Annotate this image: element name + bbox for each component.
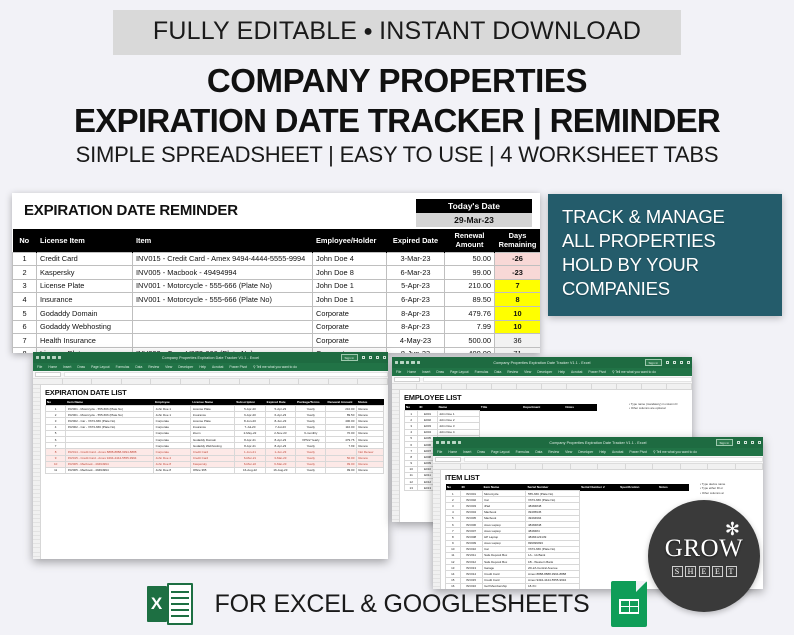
excel-icon-letter: X — [147, 586, 167, 622]
cell-pkg: Yearly — [296, 467, 326, 473]
cell-item: INV001 - Motorcycle - 555-666 (Plate No) — [133, 279, 313, 293]
col-notes: Notes — [658, 484, 690, 491]
ribbon-tab-formulas[interactable]: Formulas — [516, 450, 530, 454]
column-header-H[interactable] — [626, 464, 654, 469]
ribbon-tab-page-layout[interactable]: Page Layout — [450, 370, 469, 374]
ribbon-tab-insert[interactable]: Insert — [422, 370, 430, 374]
cell-lic: Office 365 — [191, 467, 235, 473]
table-row: 3License PlateINV001 - Motorcycle - 555-… — [13, 279, 541, 293]
ribbon-tab-strip[interactable]: FileHomeInsertDrawPage LayoutFormulasDat… — [433, 448, 763, 456]
table-row: 7Health InsuranceCorporate4-May-23500.00… — [13, 334, 541, 348]
cell-holder: Corporate — [313, 320, 387, 334]
todays-date-label: Today's Date — [416, 199, 532, 213]
cell-renewal-amount: 89.50 — [445, 293, 495, 307]
formula-bar[interactable] — [33, 371, 388, 379]
col-department: Department — [522, 404, 564, 411]
sheet-title: EXPIRATION DATE REMINDER — [12, 202, 238, 219]
ribbon-tab-draw[interactable]: Draw — [77, 365, 85, 369]
logo-letter-h: H — [685, 566, 696, 577]
name-box[interactable] — [35, 372, 61, 377]
column-header-B[interactable] — [417, 384, 442, 389]
page-tagline: SIMPLE SPREADSHEET | EASY TO USE | 4 WOR… — [0, 142, 794, 168]
close-icon[interactable] — [383, 356, 386, 359]
cell-renewal-amount: 99.00 — [445, 266, 495, 280]
sign-in-button[interactable]: Sign in — [645, 359, 662, 366]
worksheet-heading: ITEM LIST — [445, 473, 759, 482]
cell-license-item: Health Insurance — [37, 334, 133, 348]
cell-item — [133, 334, 313, 348]
col-renewal-amount: Renewal Amount — [445, 229, 495, 252]
col-expired-date: Expired Date — [387, 229, 445, 252]
cell-license-item: Insurance — [37, 293, 133, 307]
excel-icon-grid — [167, 583, 193, 625]
logo-letter-e: E — [712, 566, 723, 577]
cell-expired-date: 3-Mar-23 — [387, 252, 445, 266]
window-title-text: Company Properties Expiration Date Track… — [33, 356, 388, 360]
cell-st: Renew — [356, 467, 383, 473]
cell-no: 3 — [13, 279, 37, 293]
window-title-bar[interactable]: Company Properties Expiration Date Track… — [392, 357, 692, 368]
column-header-A[interactable] — [433, 464, 461, 469]
note-line: • Other columns are optional — [629, 406, 689, 410]
column-header-J[interactable] — [681, 464, 709, 469]
footer: X FOR EXCEL & GOOGLESHEETS — [0, 581, 794, 627]
col-no: No — [13, 229, 37, 252]
cell-sub: 16-Aug-22 — [235, 467, 265, 473]
column-header-D[interactable] — [467, 384, 492, 389]
marketing-line-4: COMPANIES — [562, 277, 782, 301]
maximize-icon[interactable] — [751, 441, 754, 444]
sheets-cell — [621, 607, 629, 612]
ribbon-tab-insert[interactable]: Insert — [63, 365, 71, 369]
employee-notes: • Type name (mandatory) in column D• Oth… — [629, 402, 689, 411]
window-title-text: Company Properties Expiration Date Track… — [433, 441, 763, 445]
column-header-D[interactable] — [516, 464, 544, 469]
ribbon-tab-strip[interactable]: FileHomeInsertDrawPage LayoutFormulasDat… — [33, 363, 388, 371]
col-notes: Notes — [564, 404, 597, 411]
ribbon-tab-view[interactable]: View — [524, 370, 531, 374]
ribbon-tab-draw[interactable]: Draw — [436, 370, 444, 374]
column-header-H[interactable] — [567, 384, 592, 389]
row-header-32[interactable] — [392, 520, 399, 522]
cell-no: 5 — [13, 307, 37, 321]
cell-no: 4 — [13, 293, 37, 307]
ribbon-options-icon[interactable] — [737, 441, 740, 444]
ribbon-tab-review[interactable]: Review — [507, 370, 518, 374]
col-title: Title — [479, 404, 521, 411]
page-subtitle-main: EXPIRATION DATE TRACKER | REMINDER — [0, 104, 794, 139]
name-box[interactable] — [394, 377, 420, 382]
col-days-remaining: Days Remaining — [495, 229, 541, 252]
column-header-E[interactable] — [543, 464, 571, 469]
tell-me-search[interactable]: ⚲ Tell me what you want to do — [612, 370, 656, 374]
cell-renewal-amount: 479.76 — [445, 307, 495, 321]
column-header-A[interactable] — [392, 384, 417, 389]
col-serial-number-2: Serial Number 2 — [580, 484, 619, 491]
item-notes: • Type device name• Type either ID or• O… — [700, 482, 760, 495]
cell-holder: John Doe 1 — [313, 293, 387, 307]
column-header-E[interactable] — [492, 384, 517, 389]
sign-in-button[interactable]: Sign in — [341, 354, 358, 361]
google-sheets-icon — [611, 581, 647, 627]
ribbon-tab-page-layout[interactable]: Page Layout — [491, 450, 510, 454]
maximize-icon[interactable] — [680, 361, 683, 364]
excel-icon-row — [171, 615, 189, 618]
column-header-L[interactable] — [667, 384, 692, 389]
row-header-42[interactable] — [33, 557, 40, 559]
col-item: Item — [133, 229, 313, 252]
ribbon-tab-home[interactable]: Home — [48, 365, 57, 369]
cell-days-remaining: 36 — [495, 334, 541, 348]
page-title: COMPANY PROPERTIES — [0, 64, 794, 99]
sheets-cell — [630, 607, 638, 612]
column-header-K[interactable] — [329, 379, 359, 384]
ribbon-tab-view[interactable]: View — [565, 450, 572, 454]
formula-bar[interactable] — [433, 456, 763, 464]
minimize-icon[interactable] — [744, 441, 747, 444]
cell-no: 6 — [13, 320, 37, 334]
marketing-line-2: ALL PROPERTIES — [562, 229, 782, 253]
close-icon[interactable] — [687, 361, 690, 364]
cell-no: 7 — [13, 334, 37, 348]
worksheet-canvas[interactable]: EXPIRATION DATE LIST NoItem NameEmployee… — [41, 385, 388, 559]
footer-text: FOR EXCEL & GOOGLESHEETS — [215, 590, 590, 619]
cell-item: INV005 - Macbook - 49494994 — [133, 266, 313, 280]
excel-icon-row — [171, 603, 189, 606]
cell-exp: 16-Aug-23 — [265, 467, 295, 473]
window-controls[interactable] — [666, 361, 690, 364]
window-title-bar[interactable]: Company Properties Expiration Date Track… — [433, 437, 763, 448]
column-header-I[interactable] — [653, 464, 681, 469]
cell-item — [133, 320, 313, 334]
ribbon-tab-insert[interactable]: Insert — [463, 450, 471, 454]
promo-ribbon-right: INSTANT DOWNLOAD — [379, 17, 641, 45]
cell-holder: John Doe 8 — [313, 266, 387, 280]
column-header-F[interactable] — [571, 464, 599, 469]
todays-date-value: 29-Mar-23 — [416, 213, 532, 227]
column-header-E[interactable] — [151, 379, 181, 384]
column-header-D[interactable] — [122, 379, 152, 384]
row-headers[interactable] — [433, 470, 441, 589]
cell-expired-date: 6-Apr-23 — [387, 293, 445, 307]
cell-renewal-amount: 400.00 — [445, 347, 495, 353]
table-row: 1Credit CardINV015 - Credit Card - Amex … — [13, 252, 541, 266]
cell-no: 11 — [46, 467, 66, 473]
window-controls[interactable] — [737, 441, 761, 444]
ribbon-tab-review[interactable]: Review — [548, 450, 559, 454]
column-header-J[interactable] — [299, 379, 329, 384]
cell-expired-date: 6-Mar-23 — [387, 266, 445, 280]
ribbon-tab-data[interactable]: Data — [135, 365, 142, 369]
sign-in-button[interactable]: Sign in — [716, 439, 733, 446]
column-header-C[interactable] — [488, 464, 516, 469]
cell-amt: 99.00 — [326, 467, 356, 473]
ribbon-tab-power-pivot[interactable]: Power Pivot — [229, 365, 247, 369]
column-header-K[interactable] — [708, 464, 736, 469]
table-row: 11INV005 - Macbook - 49494994John Doe 8O… — [46, 467, 384, 473]
ribbon-tab-formulas[interactable]: Formulas — [475, 370, 489, 374]
ribbon-tab-help[interactable]: Help — [199, 365, 206, 369]
ribbon-tab-developer[interactable]: Developer — [178, 365, 193, 369]
table-row: 6Godaddy WebhostingCorporate8-Apr-237.99… — [13, 320, 541, 334]
column-header-H[interactable] — [240, 379, 270, 384]
tell-me-search[interactable]: ⚲ Tell me what you want to do — [253, 365, 297, 369]
excel-icon-row — [171, 609, 189, 612]
window-title-bar[interactable]: Company Properties Expiration Date Track… — [33, 352, 388, 363]
ribbon-tab-power-pivot[interactable]: Power Pivot — [629, 450, 647, 454]
formula-bar[interactable] — [392, 376, 692, 384]
cell-expired-date: 8-Jun-23 — [387, 347, 445, 353]
cell-license-item: License Plate — [37, 279, 133, 293]
ribbon-tab-help[interactable]: Help — [558, 370, 565, 374]
column-header-C[interactable] — [92, 379, 122, 384]
row-headers[interactable] — [33, 385, 41, 559]
cell-holder: John Doe 4 — [313, 252, 387, 266]
column-header-C[interactable] — [442, 384, 467, 389]
marketing-line-3: HOLD BY YOUR — [562, 253, 782, 277]
ribbon-tab-acrobat[interactable]: Acrobat — [212, 365, 223, 369]
formula-input[interactable] — [423, 377, 692, 382]
cell-no: 1 — [13, 252, 37, 266]
note-line: • Other columns ar — [700, 491, 760, 495]
reminder-table-header-row: No License Item Item Employee/Holder Exp… — [13, 229, 541, 252]
sheets-grid — [619, 599, 639, 614]
cell-holder: Corporate — [313, 334, 387, 348]
excel-window-expiration-date-list[interactable]: Company Properties Expiration Date Track… — [33, 352, 388, 559]
sheets-cell — [621, 601, 629, 606]
ribbon-tab-acrobat[interactable]: Acrobat — [612, 450, 623, 454]
cell-days-remaining: -26 — [495, 252, 541, 266]
ribbon-tab-help[interactable]: Help — [599, 450, 606, 454]
minimize-icon[interactable] — [673, 361, 676, 364]
ribbon-tab-page-layout[interactable]: Page Layout — [91, 365, 110, 369]
cell-license-item: Kaspersky — [37, 266, 133, 280]
column-header-I[interactable] — [270, 379, 300, 384]
flower-icon: ✻ — [725, 520, 740, 538]
ribbon-tab-strip[interactable]: FileHomeInsertDrawPage LayoutFormulasDat… — [392, 368, 692, 376]
column-header-G[interactable] — [210, 379, 240, 384]
column-header-G[interactable] — [598, 464, 626, 469]
column-header-A[interactable] — [33, 379, 63, 384]
marketing-line-1: TRACK & MANAGE — [562, 205, 782, 229]
ribbon-tab-draw[interactable]: Draw — [477, 450, 485, 454]
ribbon-tab-file[interactable]: File — [37, 365, 42, 369]
col-specification: Specification — [619, 484, 658, 491]
cell-days-remaining: 8 — [495, 293, 541, 307]
ribbon-tab-file[interactable]: File — [396, 370, 401, 374]
column-header-F[interactable] — [517, 384, 542, 389]
ribbon-tab-file[interactable]: File — [437, 450, 442, 454]
name-box[interactable] — [435, 457, 461, 462]
promo-ribbon-left: FULLY EDITABLE — [153, 17, 357, 45]
hero-header: FULLY EDITABLE●INSTANT DOWNLOAD COMPANY … — [0, 0, 794, 168]
column-header-L[interactable] — [358, 379, 388, 384]
cell-days-remaining: 10 — [495, 320, 541, 334]
cell-item: INV015 - Credit Card - Amex 9494-4444-55… — [133, 252, 313, 266]
table-row: 5Godaddy DomainCorporate8-Apr-23479.7610 — [13, 307, 541, 321]
cell-renewal-amount: 210.00 — [445, 279, 495, 293]
column-header-G[interactable] — [542, 384, 567, 389]
cell-expired-date: 8-Apr-23 — [387, 320, 445, 334]
formula-input[interactable] — [464, 457, 763, 462]
tell-me-search[interactable]: ⚲ Tell me what you want to do — [653, 450, 697, 454]
minimize-icon[interactable] — [369, 356, 372, 359]
cell-license-item: Godaddy Webhosting — [37, 320, 133, 334]
column-header-B[interactable] — [63, 379, 93, 384]
ribbon-tab-formulas[interactable]: Formulas — [116, 365, 130, 369]
row-headers[interactable] — [392, 390, 400, 522]
cell-expired-date: 8-Apr-23 — [387, 307, 445, 321]
ribbon-tab-developer[interactable]: Developer — [537, 370, 552, 374]
ribbon-tab-data[interactable]: Data — [494, 370, 501, 374]
logo-grow-text: GROW — [665, 536, 743, 561]
table-row: 2KasperskyINV005 - Macbook - 49494994Joh… — [13, 266, 541, 280]
cell-item: INV001 - Motorcycle - 555-666 (Plate No) — [133, 293, 313, 307]
logo-letter-t: T — [726, 566, 737, 577]
excel-icon-row — [171, 591, 189, 594]
ribbon-tab-developer[interactable]: Developer — [578, 450, 593, 454]
cell-expired-date: 5-Apr-23 — [387, 279, 445, 293]
close-icon[interactable] — [758, 441, 761, 444]
cell-item — [133, 307, 313, 321]
cell-license-item: Godaddy Domain — [37, 307, 133, 321]
column-header-B[interactable] — [461, 464, 489, 469]
cell-days-remaining: -23 — [495, 266, 541, 280]
col-license-item: License Item — [37, 229, 133, 252]
cell-no: 2 — [13, 266, 37, 280]
column-header-K[interactable] — [642, 384, 667, 389]
ribbon-options-icon[interactable] — [362, 356, 365, 359]
column-header-I[interactable] — [592, 384, 617, 389]
logo-sheet-letters: SHEET — [672, 566, 737, 577]
excel-icon: X — [147, 583, 193, 625]
window-controls[interactable] — [362, 356, 386, 359]
ribbon-tab-data[interactable]: Data — [535, 450, 542, 454]
cell-days-remaining: 10 — [495, 307, 541, 321]
col-employee-holder: Employee/Holder — [313, 229, 387, 252]
column-header-L[interactable] — [736, 464, 764, 469]
ribbon-tab-power-pivot[interactable]: Power Pivot — [588, 370, 606, 374]
cell-holder: John Doe 1 — [313, 279, 387, 293]
cell-renewal-amount: 500.00 — [445, 334, 495, 348]
marketing-panel: TRACK & MANAGE ALL PROPERTIES HOLD BY YO… — [548, 194, 782, 316]
todays-date-box: Today's Date 29-Mar-23 — [416, 199, 532, 227]
logo-letter-e: E — [699, 566, 710, 577]
cell-no: 13 — [405, 485, 418, 491]
bullet-dot-icon: ● — [357, 23, 379, 40]
cell-item: INV005 - Macbook - 49494994 — [66, 467, 154, 473]
cell-renewal-amount: 7.99 — [445, 320, 495, 334]
ribbon-options-icon[interactable] — [666, 361, 669, 364]
formula-input[interactable] — [64, 372, 388, 377]
cell-expired-date: 4-May-23 — [387, 334, 445, 348]
ribbon-tab-view[interactable]: View — [165, 365, 172, 369]
logo-letter-s: S — [672, 566, 683, 577]
worksheet-body[interactable]: EXPIRATION DATE LIST NoItem NameEmployee… — [33, 385, 388, 559]
expiration-list-table: NoItem NameEmployeeLicense NameSubscript… — [45, 399, 384, 474]
table-row: 4InsuranceINV001 - Motorcycle - 555-666 … — [13, 293, 541, 307]
cell-license-item: Credit Card — [37, 252, 133, 266]
ribbon-tab-review[interactable]: Review — [148, 365, 159, 369]
cell-days-remaining: 7 — [495, 279, 541, 293]
worksheet-heading: EMPLOYEE LIST — [404, 393, 688, 402]
maximize-icon[interactable] — [376, 356, 379, 359]
cell-emp: John Doe 8 — [154, 467, 191, 473]
sheet-header: EXPIRATION DATE REMINDER Today's Date 29… — [12, 193, 540, 229]
ribbon-tab-home[interactable]: Home — [448, 450, 457, 454]
promo-ribbon: FULLY EDITABLE●INSTANT DOWNLOAD — [113, 10, 681, 55]
excel-icon-row — [171, 597, 189, 600]
cell-holder: Corporate — [313, 307, 387, 321]
cell-renewal-amount: 50.00 — [445, 252, 495, 266]
ribbon-tab-home[interactable]: Home — [407, 370, 416, 374]
ribbon-tab-acrobat[interactable]: Acrobat — [571, 370, 582, 374]
sheets-cell — [630, 601, 638, 606]
column-header-J[interactable] — [617, 384, 642, 389]
column-header-F[interactable] — [181, 379, 211, 384]
worksheet-heading: EXPIRATION DATE LIST — [45, 388, 384, 397]
expiration-reminder-card: EXPIRATION DATE REMINDER Today's Date 29… — [12, 193, 540, 353]
cell-days-remaining: 71 — [495, 347, 541, 353]
reminder-table: No License Item Item Employee/Holder Exp… — [12, 229, 540, 353]
